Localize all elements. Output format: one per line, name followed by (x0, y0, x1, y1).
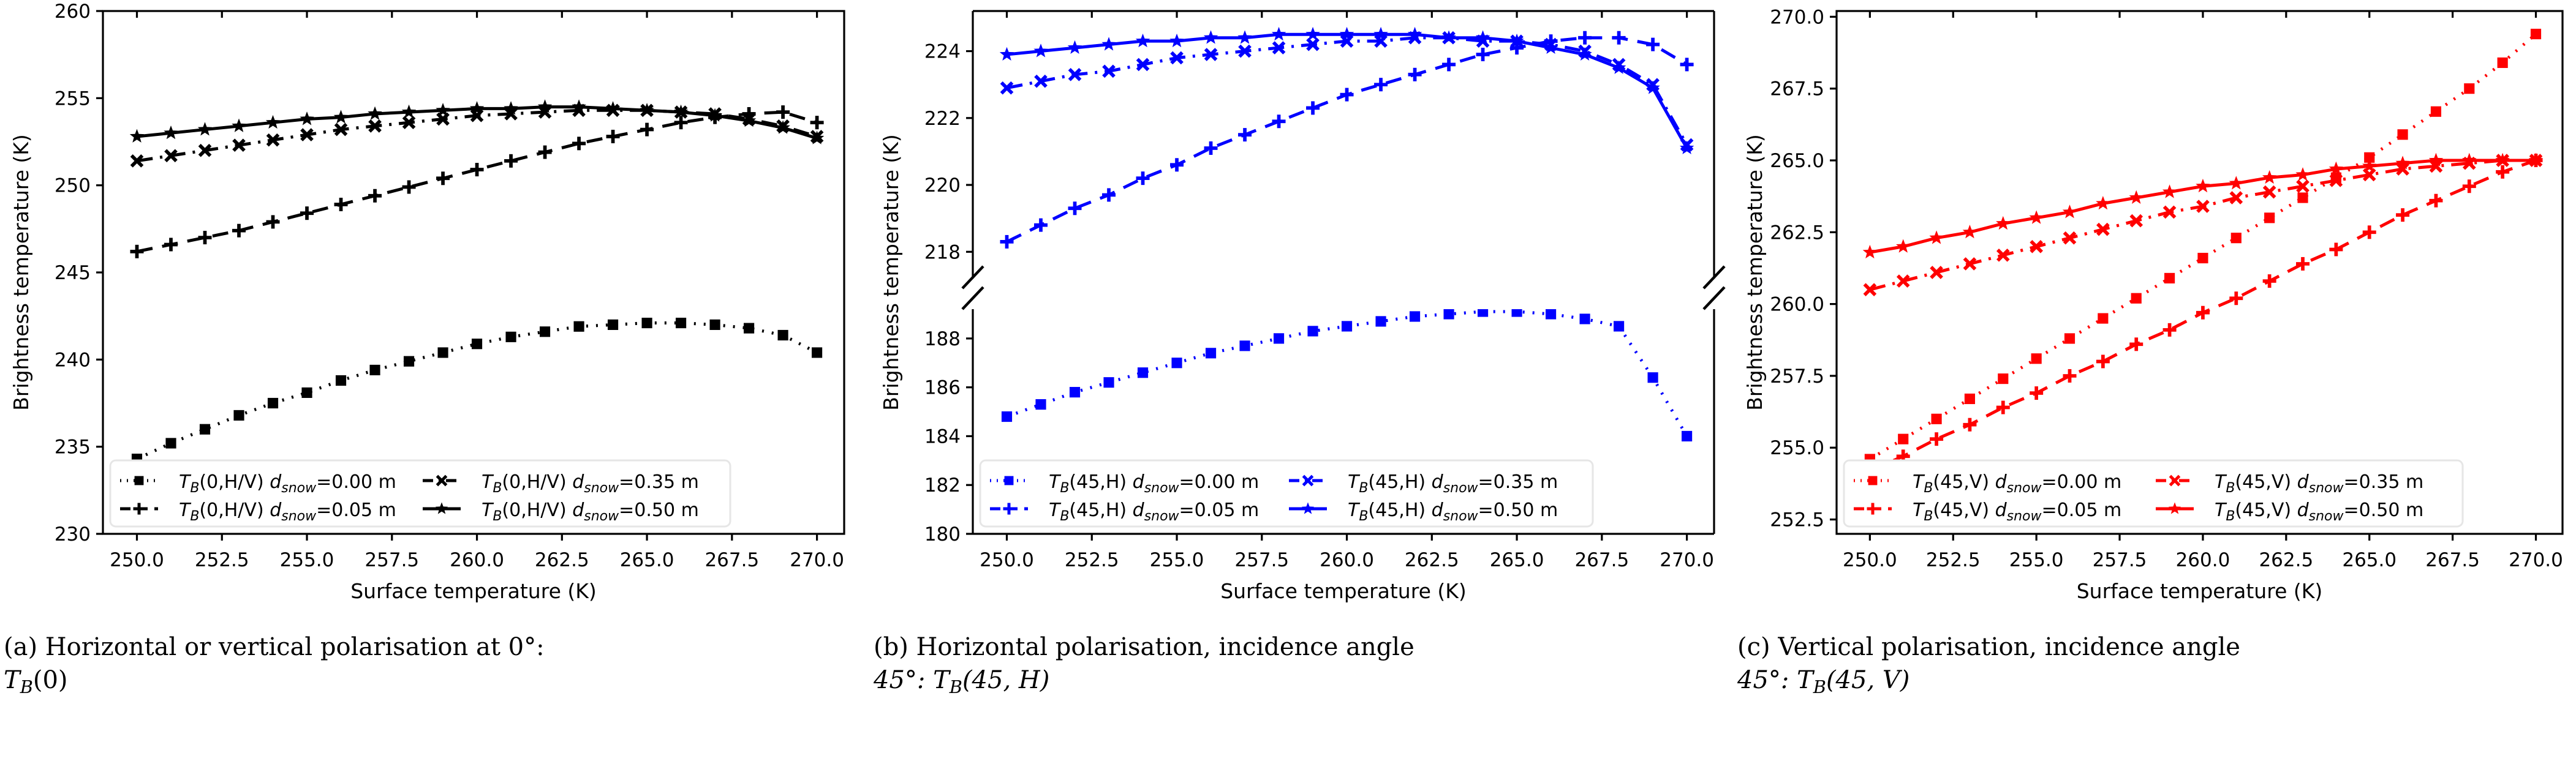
y-tick-label: 224 (924, 41, 961, 63)
y-tick-label: 270.0 (1770, 6, 1824, 28)
y-tick-label: 240 (55, 349, 91, 371)
x-tick-label: 270.0 (2509, 549, 2563, 571)
caption-a-symbol: T (4, 666, 20, 694)
legend: TB(45,V) dsnow=0.00 mTB(45,V) dsnow=0.05… (1844, 460, 2463, 527)
x-tick-label: 257.5 (1234, 549, 1289, 571)
y-tick-label: 262.5 (1770, 222, 1824, 244)
x-tick-label: 257.5 (364, 549, 419, 571)
y-tick-label: 260.0 (1770, 294, 1824, 316)
caption-b-line1: (b) Horizontal polarisation, incidence a… (874, 631, 1725, 664)
y-tick-label: 186 (924, 377, 961, 399)
x-tick-label: 270.0 (1660, 549, 1714, 571)
x-tick-label: 262.5 (1405, 549, 1459, 571)
y-tick-label: 180 (924, 523, 961, 545)
y-tick-label: 222 (924, 108, 961, 130)
figure-panel-group: Brightness temperature (K)23023524024525… (0, 0, 2576, 772)
caption-b-line2: 45°: TB(45, H) (874, 664, 1725, 699)
axis-break-marker (1704, 287, 1724, 309)
y-tick-label: 267.5 (1770, 78, 1824, 100)
x-tick-label: 252.5 (1926, 549, 1981, 571)
panel-a: Brightness temperature (K)23023524024525… (0, 0, 858, 624)
x-tick-label: 270.0 (790, 549, 844, 571)
x-tick-label: 265.0 (2342, 549, 2397, 571)
caption-b: (b) Horizontal polarisation, incidence a… (874, 631, 1725, 699)
y-axis-label: Brightness temperature (K) (9, 134, 33, 411)
panel-b: Brightness temperature (K)21822022222418… (870, 0, 1728, 624)
y-tick-label: 235 (55, 437, 91, 459)
x-tick-label: 262.5 (2259, 549, 2313, 571)
caption-b-symbol: 45°: T (874, 666, 950, 694)
y-tick-label: 230 (55, 523, 91, 545)
y-tick-label: 255.0 (1770, 437, 1824, 459)
x-tick-label: 252.5 (1065, 549, 1119, 571)
caption-c: (c) Vertical polarisation, incidence ang… (1737, 631, 2574, 699)
x-tick-label: 250.0 (980, 549, 1034, 571)
caption-c-subscript: B (1813, 676, 1826, 697)
y-tick-label: 260 (55, 1, 91, 23)
caption-b-args: (45, H) (962, 666, 1049, 694)
y-tick-label: 218 (924, 241, 961, 263)
x-tick-label: 267.5 (1574, 549, 1629, 571)
data-series-line (1007, 38, 1687, 242)
panel-a-plot: Brightness temperature (K)23023524024525… (0, 0, 858, 624)
x-tick-label: 265.0 (620, 549, 674, 571)
panel-c-plot: Brightness temperature (K)252.5255.0257.… (1734, 0, 2576, 624)
y-axis-label: Brightness temperature (K) (1743, 134, 1767, 411)
y-axis-label: Brightness temperature (K) (879, 134, 903, 411)
axis-break-marker (962, 287, 983, 309)
x-tick-label: 252.5 (195, 549, 249, 571)
x-tick-label: 267.5 (704, 549, 759, 571)
x-tick-label: 255.0 (1150, 549, 1204, 571)
x-tick-label: 260.0 (2176, 549, 2230, 571)
x-tick-label: 260.0 (450, 549, 504, 571)
y-tick-label: 255 (55, 88, 91, 110)
legend: TB(0,H/V) dsnow=0.00 mTB(0,H/V) dsnow=0.… (110, 460, 730, 527)
x-tick-label: 267.5 (2425, 549, 2480, 571)
y-tick-label: 252.5 (1770, 509, 1824, 531)
x-axis-label: Surface temperature (K) (2077, 579, 2323, 603)
x-tick-label: 265.0 (1490, 549, 1544, 571)
x-tick-label: 257.5 (2093, 549, 2147, 571)
y-tick-label: 184 (924, 425, 961, 448)
y-tick-label: 265.0 (1770, 150, 1824, 172)
y-tick-label: 257.5 (1770, 365, 1824, 388)
y-tick-label: 188 (924, 328, 961, 350)
x-tick-label: 262.5 (535, 549, 589, 571)
x-axis-label: Surface temperature (K) (350, 579, 597, 603)
legend: TB(45,H) dsnow=0.00 mTB(45,H) dsnow=0.05… (980, 460, 1593, 527)
caption-a-line2: TB(0) (4, 664, 855, 699)
caption-c-line2: 45°: TB(45, V) (1737, 664, 2574, 699)
caption-a-line1: (a) Horizontal or vertical polarisation … (4, 631, 855, 664)
x-tick-label: 255.0 (280, 549, 334, 571)
caption-a-args: (0) (33, 666, 68, 694)
caption-c-line1: (c) Vertical polarisation, incidence ang… (1737, 631, 2574, 664)
caption-b-subscript: B (950, 676, 962, 697)
x-tick-label: 255.0 (2009, 549, 2064, 571)
y-tick-label: 182 (924, 474, 961, 497)
x-tick-label: 250.0 (1843, 549, 1897, 571)
panel-c: Brightness temperature (K)252.5255.0257.… (1734, 0, 2576, 624)
panel-b-plot: Brightness temperature (K)21822022222418… (870, 0, 1728, 624)
x-tick-label: 250.0 (110, 549, 164, 571)
caption-a-subscript: B (20, 676, 33, 697)
y-tick-label: 245 (55, 262, 91, 284)
caption-a: (a) Horizontal or vertical polarisation … (4, 631, 855, 699)
x-axis-label: Surface temperature (K) (1220, 579, 1467, 603)
y-tick-label: 220 (924, 174, 961, 197)
caption-c-args: (45, V) (1826, 666, 1909, 694)
y-tick-label: 250 (55, 175, 91, 197)
caption-c-symbol: 45°: T (1737, 666, 1813, 694)
x-tick-label: 260.0 (1320, 549, 1374, 571)
